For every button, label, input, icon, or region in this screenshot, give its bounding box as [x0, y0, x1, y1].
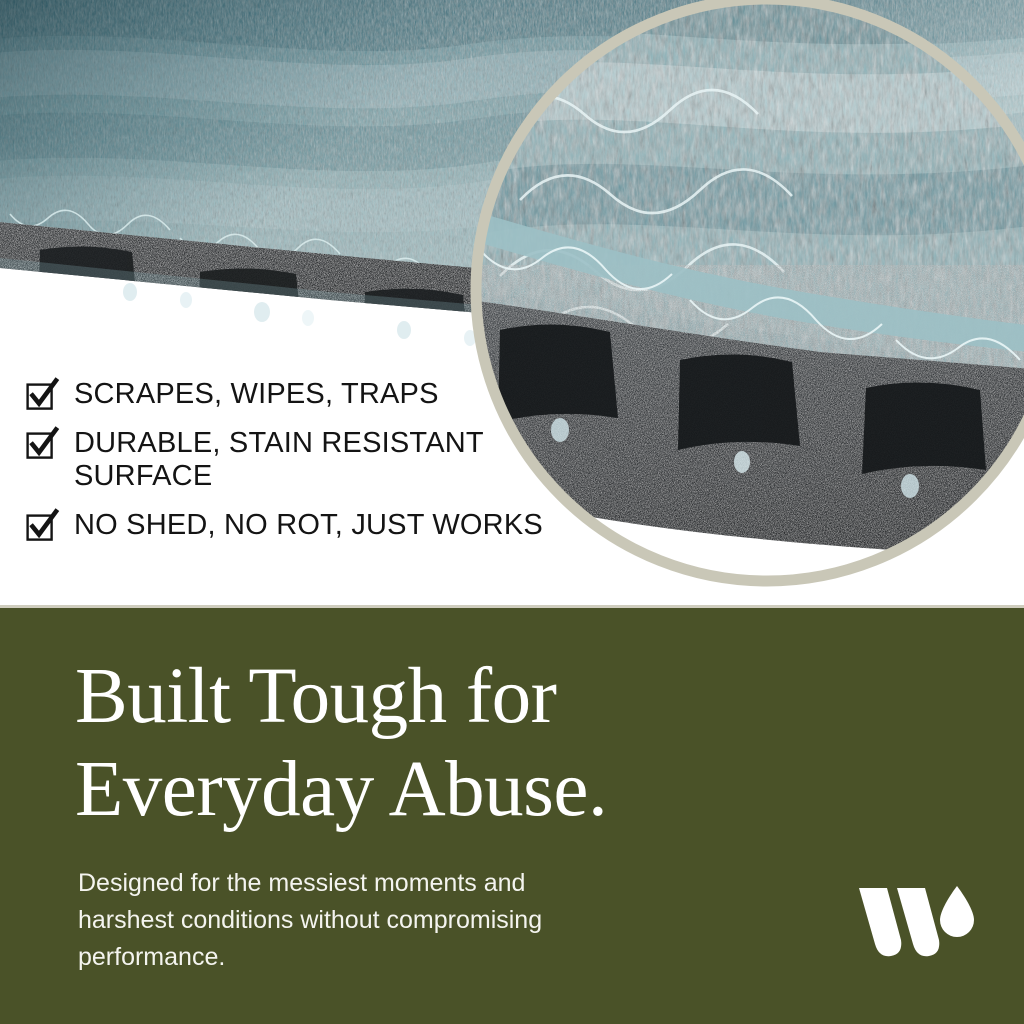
product-marketing-card: SCRAPES, WIPES, TRAPS DURABLE, STAIN RES…: [0, 0, 1024, 1024]
list-item-label: DURABLE, STAIN RESISTANT SURFACE: [74, 427, 484, 493]
list-item-label: SCRAPES, WIPES, TRAPS: [74, 378, 439, 411]
list-item-label: NO SHED, NO ROT, JUST WORKS: [74, 509, 543, 542]
checkbox-checked-icon: [26, 511, 57, 542]
checkbox-checked-icon: [26, 380, 57, 411]
page-title: Built Tough for Everyday Abuse.: [75, 650, 835, 836]
list-item: DURABLE, STAIN RESISTANT SURFACE: [26, 427, 546, 493]
checkbox-checked-icon: [26, 429, 57, 460]
list-item: NO SHED, NO ROT, JUST WORKS: [26, 509, 546, 542]
list-item: SCRAPES, WIPES, TRAPS: [26, 378, 546, 411]
feature-checklist: SCRAPES, WIPES, TRAPS DURABLE, STAIN RES…: [26, 378, 546, 542]
promo-subcopy: Designed for the messiest moments and ha…: [78, 865, 688, 976]
w-droplet-logo: [857, 884, 975, 964]
